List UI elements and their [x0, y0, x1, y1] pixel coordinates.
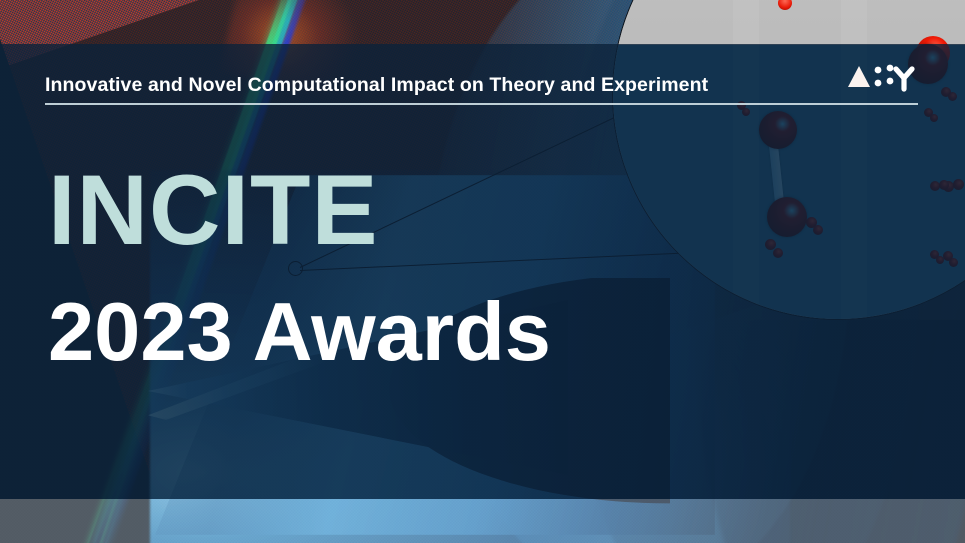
incite-molecule-logo-icon — [845, 62, 915, 96]
banner-tagline: Innovative and Novel Computational Impac… — [45, 74, 708, 97]
page-title: INCITE — [48, 160, 379, 259]
incite-awards-banner: Innovative and Novel Computational Impac… — [0, 0, 965, 543]
page-subtitle: 2023 Awards — [48, 290, 551, 373]
tagline-divider-rule — [45, 103, 918, 105]
banner-content: Innovative and Novel Computational Impac… — [0, 0, 965, 543]
